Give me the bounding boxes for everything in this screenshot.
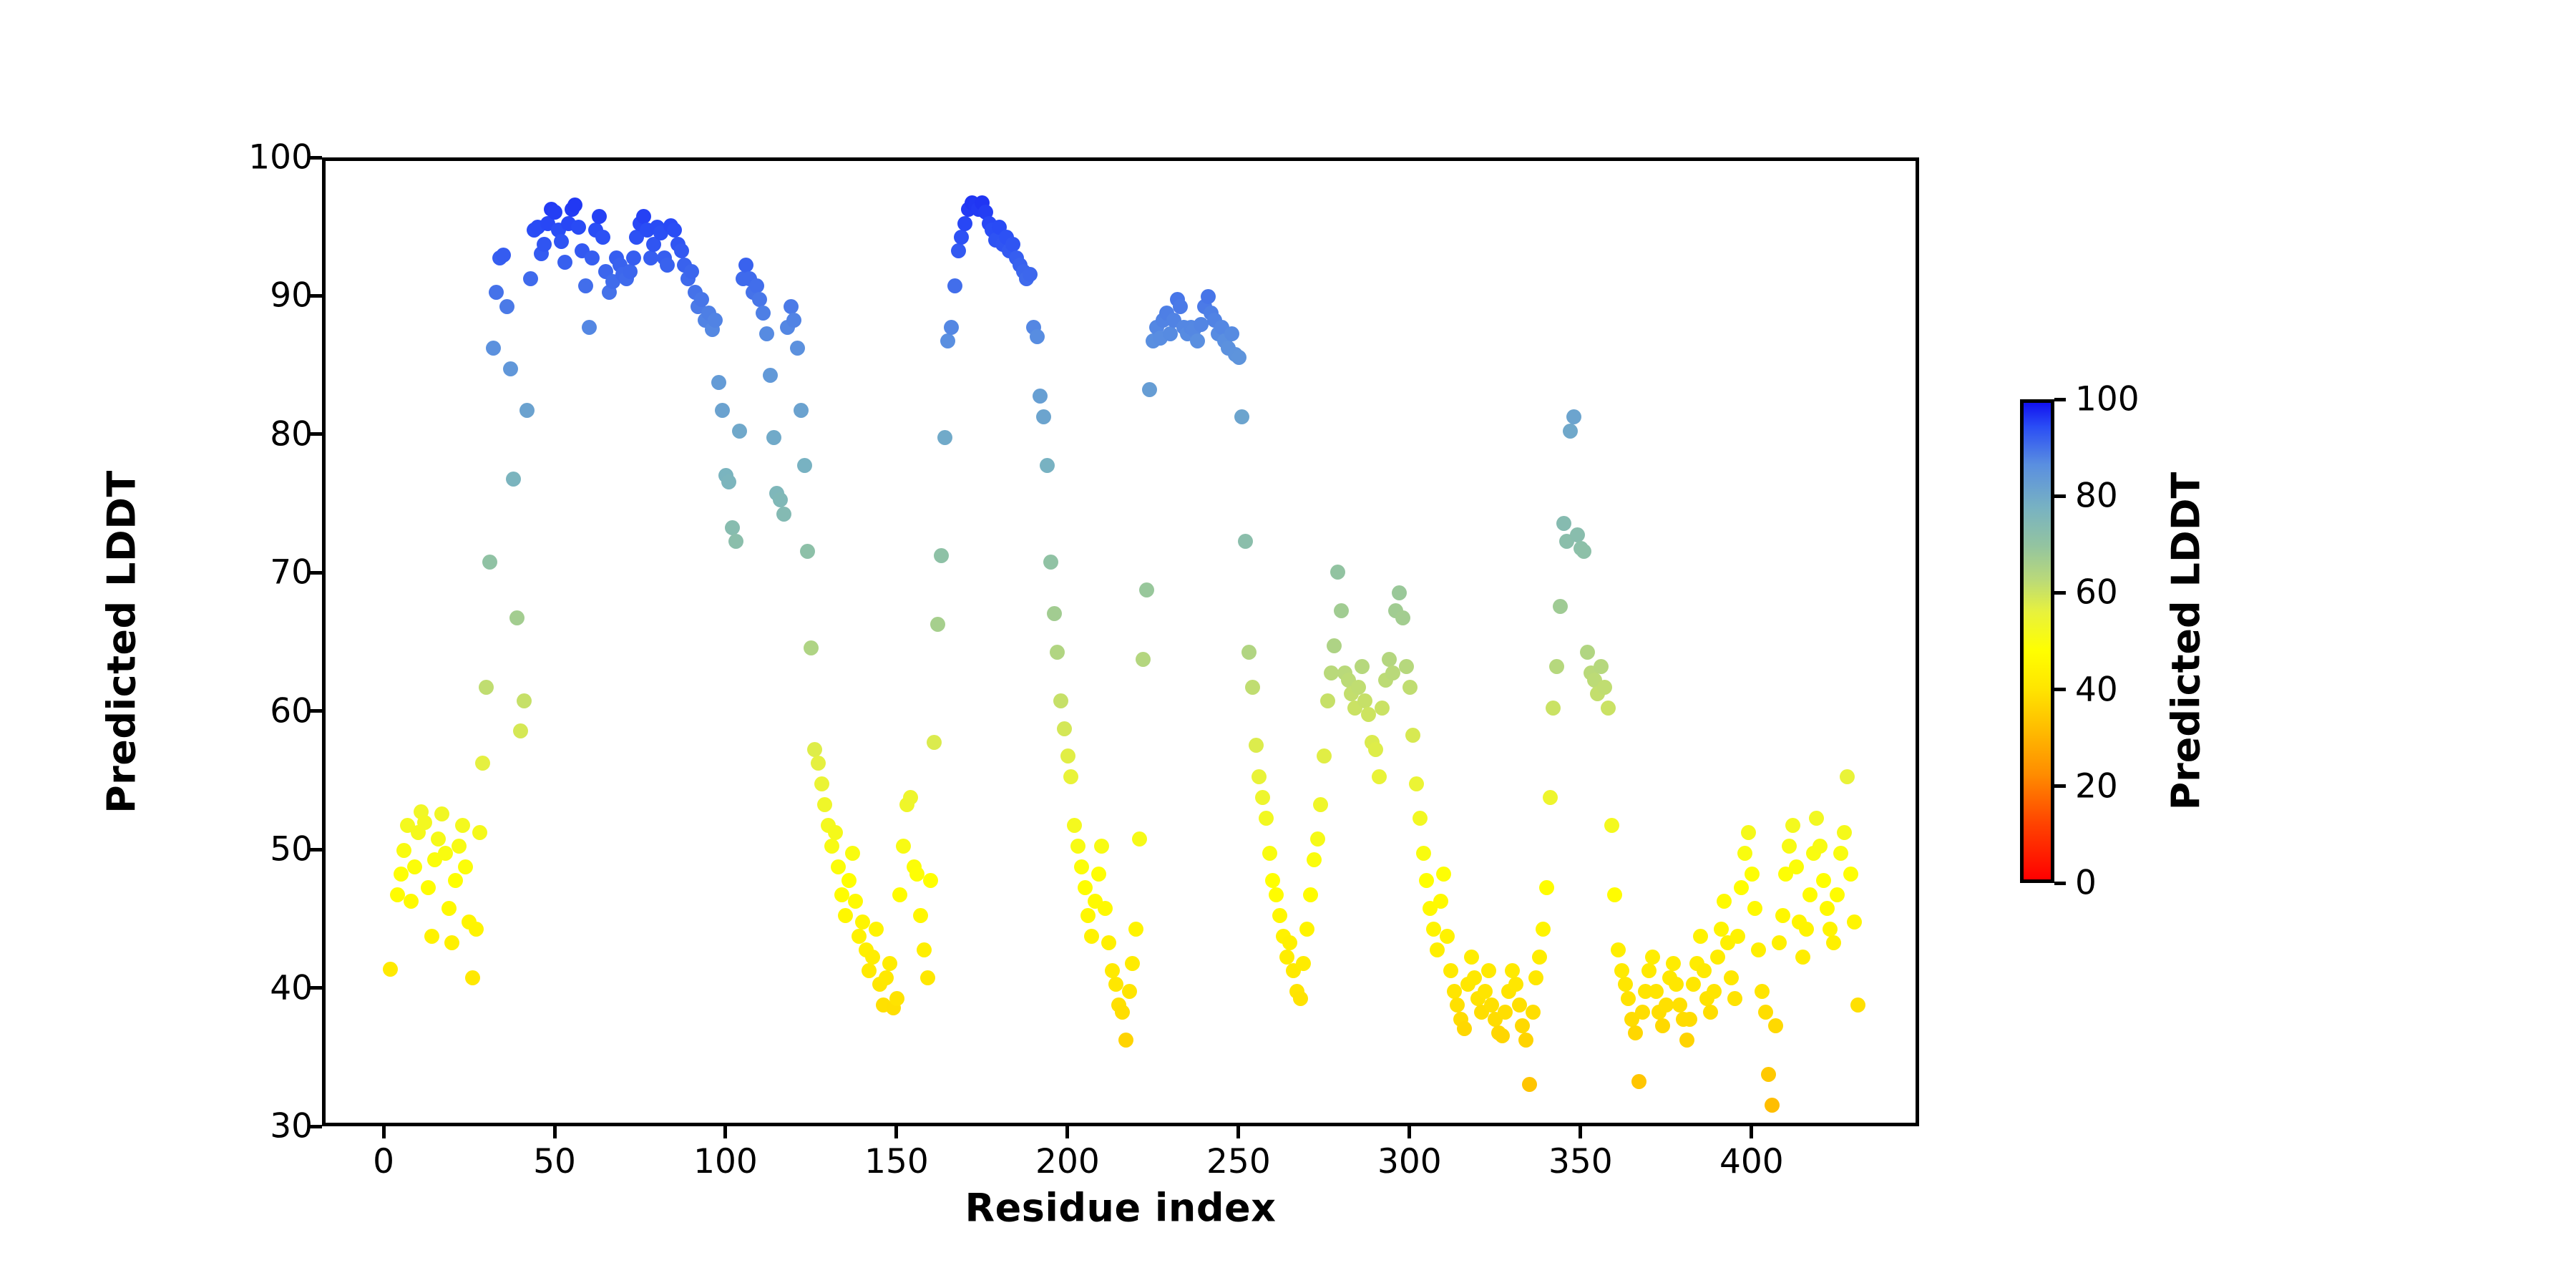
scatter-point (496, 248, 511, 263)
scatter-point (766, 430, 781, 445)
scatter-point (927, 735, 942, 750)
scatter-point (503, 361, 518, 376)
scatter-point (1768, 1018, 1783, 1033)
scatter-point (1259, 811, 1274, 826)
scatter-point (1484, 997, 1499, 1013)
scatter-point (1303, 887, 1318, 902)
scatter-point (383, 962, 398, 977)
x-tick-label: 200 (1035, 1145, 1100, 1179)
scatter-point (1409, 776, 1424, 791)
scatter-point (845, 846, 860, 861)
x-tick-label: 0 (373, 1145, 394, 1179)
scatter-point (1621, 991, 1636, 1006)
scatter-point (1005, 237, 1020, 252)
scatter-point (1795, 950, 1810, 965)
scatter-point (1789, 859, 1804, 874)
scatter-point (1355, 659, 1370, 674)
scatter-point (738, 258, 753, 273)
scatter-point (1269, 887, 1284, 902)
scatter-point (1443, 963, 1458, 978)
scatter-point (1549, 659, 1564, 674)
scatter-point (1361, 707, 1376, 722)
scatter-point (1395, 610, 1410, 625)
scatter-point (547, 205, 562, 220)
scatter-point (1758, 1005, 1773, 1020)
scatter-point (1279, 950, 1294, 965)
scatter-point (1785, 818, 1800, 833)
scatter-point (763, 368, 778, 383)
scatter-point (1512, 997, 1527, 1013)
scatter-point (749, 278, 764, 293)
scatter-point (1440, 929, 1455, 944)
scatter-point (1809, 811, 1824, 826)
scatter-point (1727, 991, 1742, 1006)
scatter-point (1576, 544, 1591, 559)
scatter-point (592, 209, 607, 224)
scatter-point (1518, 1033, 1533, 1048)
scatter-point (1601, 701, 1616, 716)
scatter-point (509, 610, 525, 625)
scatter-point (862, 963, 877, 978)
scatter-point (1539, 880, 1554, 895)
scatter-point (674, 243, 689, 258)
scatter-point (486, 341, 501, 356)
scatter-point (1262, 846, 1277, 861)
scatter-point (396, 843, 411, 858)
scatter-point (917, 942, 932, 957)
y-tick-label: 90 (270, 279, 313, 313)
scatter-point (1614, 963, 1629, 978)
scatter-point (1426, 922, 1441, 937)
scatter-point (1508, 977, 1523, 992)
scatter-point (725, 520, 740, 535)
scatter-point (626, 250, 641, 265)
scatter-point (1139, 582, 1154, 597)
scatter-point (1084, 929, 1099, 944)
scatter-point (1580, 645, 1595, 660)
scatter-point (1741, 825, 1756, 840)
y-axis-label: Predicted LDDT (99, 470, 145, 814)
colorbar-tick-label: 60 (2075, 576, 2118, 610)
scatter-point (879, 970, 894, 985)
x-tick-label: 300 (1377, 1145, 1442, 1179)
scatter-point (1566, 409, 1581, 424)
scatter-point (728, 534, 743, 549)
x-tick-mark (1750, 1126, 1753, 1138)
scatter-point (797, 458, 812, 473)
y-tick-label: 80 (270, 417, 313, 451)
scatter-point (1604, 818, 1619, 833)
scatter-point (1597, 680, 1612, 695)
scatter-point (667, 223, 682, 238)
scatter-point (1761, 1067, 1776, 1082)
scatter-point (786, 313, 801, 328)
scatter-point (903, 790, 918, 805)
scatter-point (1659, 997, 1674, 1013)
scatter-point (954, 230, 969, 245)
scatter-point (913, 908, 928, 923)
scatter-point (1413, 811, 1428, 826)
scatter-point (1546, 701, 1561, 716)
scatter-point (1747, 901, 1762, 916)
x-tick-label: 250 (1206, 1145, 1271, 1179)
scatter-point (1714, 922, 1729, 937)
x-tick-mark (1065, 1126, 1069, 1138)
scatter-point (1837, 825, 1852, 840)
scatter-point (1495, 1028, 1510, 1043)
scatter-point (1607, 887, 1622, 902)
scatter-point (1823, 922, 1838, 937)
x-tick-mark (553, 1126, 557, 1138)
scatter-point (1320, 693, 1335, 708)
scatter-point (623, 264, 638, 279)
scatter-point (1057, 721, 1072, 736)
scatter-point (889, 991, 904, 1006)
scatter-point (896, 839, 911, 854)
scatter-point (1385, 665, 1400, 680)
scatter-point (1765, 1098, 1780, 1113)
scatter-point (472, 825, 487, 840)
scatter-point (715, 403, 730, 418)
scatter-point (1023, 267, 1038, 282)
scatter-point (475, 756, 490, 771)
scatter-point (1669, 977, 1684, 992)
scatter-point (920, 970, 935, 985)
scatter-point (1850, 997, 1865, 1013)
scatter-point (1313, 797, 1328, 812)
scatter-point (759, 326, 774, 341)
scatter-point (923, 873, 938, 888)
scatter-point (1094, 839, 1109, 854)
scatter-point (1125, 956, 1140, 971)
scatter-point (1813, 839, 1828, 854)
scatter-point (1382, 652, 1397, 667)
scatter-point (800, 544, 815, 559)
scatter-point (934, 548, 949, 563)
scatter-point (452, 839, 467, 854)
scatter-point (1324, 665, 1339, 680)
scatter-point (1436, 867, 1451, 882)
scatter-point (1238, 534, 1253, 549)
scatter-point (1091, 867, 1106, 882)
scatter-point (1234, 409, 1249, 424)
scatter-point (1272, 908, 1287, 923)
scatter-point (1334, 603, 1349, 618)
scatter-point (1799, 922, 1814, 937)
scatter-point (1299, 922, 1314, 937)
scatter-point (1040, 458, 1055, 473)
scatter-point (441, 901, 457, 916)
scatter-point (909, 867, 924, 882)
scatter-point (1666, 956, 1681, 971)
scatter-point (1563, 424, 1578, 439)
scatter-point (1505, 963, 1520, 978)
scatter-point (1775, 908, 1790, 923)
scatter-point (421, 880, 436, 895)
scatter-point (1241, 645, 1257, 660)
colorbar-tick-mark (2054, 784, 2066, 788)
y-tick-label: 100 (248, 141, 313, 175)
scatter-point (1707, 984, 1722, 999)
scatter-point (721, 474, 736, 489)
scatter-point (1405, 728, 1420, 743)
colorbar-tick-label: 40 (2075, 673, 2118, 706)
scatter-point (1163, 326, 1178, 341)
scatter-point (1330, 565, 1345, 580)
scatter-point (1293, 991, 1308, 1006)
scatter-point (1618, 977, 1633, 992)
scatter-point (1357, 693, 1372, 708)
scatter-point (1467, 970, 1482, 985)
scatter-point (636, 209, 651, 224)
scatter-point (1063, 769, 1078, 784)
scatter-point (1833, 846, 1848, 861)
colorbar-tick-label: 100 (2075, 383, 2140, 416)
scatter-point (1820, 901, 1835, 916)
scatter-point (817, 797, 832, 812)
scatter-point (1697, 963, 1712, 978)
scatter-point (773, 492, 788, 507)
x-tick-mark (1407, 1126, 1411, 1138)
scatter-point (1108, 977, 1123, 992)
scatter-point (444, 935, 459, 950)
colorbar-tick-mark (2054, 494, 2066, 498)
scatter-point (1265, 873, 1280, 888)
scatter-point (1847, 914, 1862, 930)
x-tick-label: 150 (864, 1145, 929, 1179)
scatter-point (794, 403, 809, 418)
x-tick-mark (723, 1126, 727, 1138)
scatter-point (708, 313, 723, 328)
scatter-point (1173, 299, 1188, 314)
scatter-point (1047, 606, 1062, 621)
scatter-point (1745, 867, 1760, 882)
scatter-point (482, 555, 497, 570)
scatter-point (1478, 984, 1493, 999)
scatter-point (390, 887, 405, 902)
scatter-plot-axes (322, 157, 1919, 1126)
scatter-point (1631, 1074, 1646, 1089)
scatter-point (834, 887, 849, 902)
scatter-point (1070, 839, 1085, 854)
scatter-point (1327, 638, 1342, 653)
scatter-point (1840, 769, 1855, 784)
scatter-point (1570, 527, 1585, 542)
scatter-point (1249, 738, 1264, 753)
scatter-point (1419, 873, 1434, 888)
scatter-point (1201, 289, 1216, 304)
scatter-point (1464, 950, 1479, 965)
scatter-point (1136, 652, 1151, 667)
scatter-point (1450, 997, 1465, 1013)
scatter-point (554, 234, 569, 249)
scatter-point (1430, 942, 1445, 957)
scatter-point (1693, 929, 1708, 944)
scatter-point (1030, 329, 1045, 344)
scatter-point (824, 839, 839, 854)
scatter-point (595, 230, 610, 245)
scatter-point (523, 271, 538, 286)
scatter-point (394, 867, 409, 882)
scatter-point (1802, 887, 1818, 902)
scatter-point (660, 258, 675, 273)
y-tick-label: 70 (270, 556, 313, 590)
scatter-point (1556, 516, 1571, 531)
scatter-point (1307, 852, 1322, 867)
colorbar-gradient (2020, 399, 2054, 883)
scatter-point (537, 237, 552, 252)
scatter-point (1717, 894, 1732, 909)
scatter-point (1036, 409, 1051, 424)
figure-canvas: 30405060708090100 0501001502002503003504… (0, 0, 2576, 1288)
scatter-point (1402, 680, 1418, 695)
scatter-point (1522, 1077, 1537, 1092)
scatter-point (1772, 935, 1787, 950)
scatter-point (1730, 929, 1745, 944)
scatter-point (1416, 846, 1431, 861)
scatter-point (882, 956, 897, 971)
scatter-point (1782, 839, 1797, 854)
scatter-point (571, 220, 586, 235)
x-tick-mark (382, 1126, 386, 1138)
scatter-point (1734, 880, 1749, 895)
scatter-point (1142, 382, 1157, 397)
scatter-point (1053, 693, 1068, 708)
scatter-point (841, 873, 857, 888)
scatter-point (937, 430, 952, 445)
x-tick-mark (894, 1126, 898, 1138)
x-tick-label: 100 (693, 1145, 758, 1179)
scatter-point (1060, 748, 1075, 763)
scatter-point (643, 250, 658, 265)
scatter-point (1543, 790, 1558, 805)
scatter-point (1655, 1018, 1670, 1033)
scatter-point (1122, 984, 1137, 999)
scatter-point (469, 922, 484, 937)
scatter-point (1498, 1005, 1513, 1020)
scatter-point (1231, 350, 1246, 365)
scatter-point (557, 255, 572, 270)
y-tick-label: 50 (270, 833, 313, 867)
scatter-point (567, 197, 582, 213)
colorbar-tick-label: 0 (2075, 867, 2097, 900)
scatter-points-layer (326, 161, 1916, 1123)
scatter-point (957, 216, 972, 231)
scatter-point (790, 341, 805, 356)
scatter-point (752, 292, 767, 307)
scatter-point (1457, 1021, 1472, 1036)
x-tick-label: 50 (533, 1145, 576, 1179)
scatter-point (1252, 769, 1267, 784)
scatter-point (1043, 555, 1058, 570)
scatter-point (1078, 880, 1093, 895)
scatter-point (1526, 1005, 1541, 1020)
scatter-point (489, 285, 504, 300)
scatter-point (424, 929, 439, 944)
scatter-point (1375, 701, 1390, 716)
scatter-point (869, 922, 884, 937)
scatter-point (1710, 950, 1725, 965)
scatter-point (1645, 950, 1660, 965)
scatter-point (513, 723, 528, 738)
scatter-point (404, 894, 419, 909)
scatter-point (711, 375, 726, 390)
scatter-point (1282, 935, 1297, 950)
scatter-point (499, 299, 514, 314)
scatter-point (438, 846, 453, 861)
scatter-point (848, 894, 863, 909)
scatter-point (694, 292, 709, 307)
scatter-point (458, 859, 473, 874)
scatter-point (1553, 599, 1568, 614)
scatter-point (1399, 659, 1414, 674)
y-tick-label: 60 (270, 694, 313, 728)
scatter-point (732, 424, 747, 439)
scatter-point (1447, 984, 1462, 999)
scatter-point (1724, 970, 1739, 985)
scatter-point (814, 776, 829, 791)
y-tick-label: 40 (270, 971, 313, 1005)
scatter-point (407, 859, 422, 874)
scatter-point (1080, 908, 1096, 923)
scatter-point (1317, 748, 1332, 763)
scatter-point (1672, 997, 1687, 1013)
scatter-point (431, 831, 446, 847)
scatter-point (417, 815, 432, 830)
scatter-point (434, 806, 449, 821)
scatter-point (1628, 1025, 1643, 1040)
colorbar-tick-mark (2054, 688, 2066, 691)
scatter-point (1755, 984, 1770, 999)
scatter-point (1033, 389, 1048, 404)
scatter-point (1128, 922, 1143, 937)
scatter-point (855, 914, 870, 930)
scatter-point (1245, 680, 1260, 695)
scatter-point (1296, 956, 1311, 971)
x-axis-label: Residue index (965, 1186, 1277, 1231)
colorbar-label: Predicted LDDT (2164, 472, 2209, 811)
scatter-point (1611, 942, 1626, 957)
scatter-point (1190, 333, 1205, 348)
scatter-point (811, 756, 826, 771)
scatter-point (784, 299, 799, 314)
colorbar-tick-mark (2054, 882, 2066, 885)
scatter-point (1310, 831, 1325, 847)
scatter-point (1686, 977, 1701, 992)
scatter-point (448, 873, 463, 888)
scatter-point (865, 950, 880, 965)
scatter-point (838, 908, 853, 923)
scatter-point (940, 333, 955, 348)
scatter-point (1105, 963, 1120, 978)
y-tick-label: 30 (270, 1110, 313, 1143)
scatter-point (947, 278, 962, 293)
scatter-point (1368, 742, 1383, 757)
scatter-point (465, 970, 480, 985)
x-tick-mark (1579, 1126, 1582, 1138)
scatter-point (828, 825, 843, 840)
scatter-point (1649, 984, 1664, 999)
scatter-point (684, 264, 699, 279)
scatter-point (582, 320, 597, 335)
scatter-point (804, 640, 819, 655)
scatter-point (1843, 867, 1858, 882)
scatter-point (1751, 942, 1766, 957)
colorbar-tick-mark (2054, 398, 2066, 401)
x-tick-mark (1236, 1126, 1240, 1138)
scatter-point (1532, 950, 1547, 965)
scatter-point (1536, 922, 1551, 937)
